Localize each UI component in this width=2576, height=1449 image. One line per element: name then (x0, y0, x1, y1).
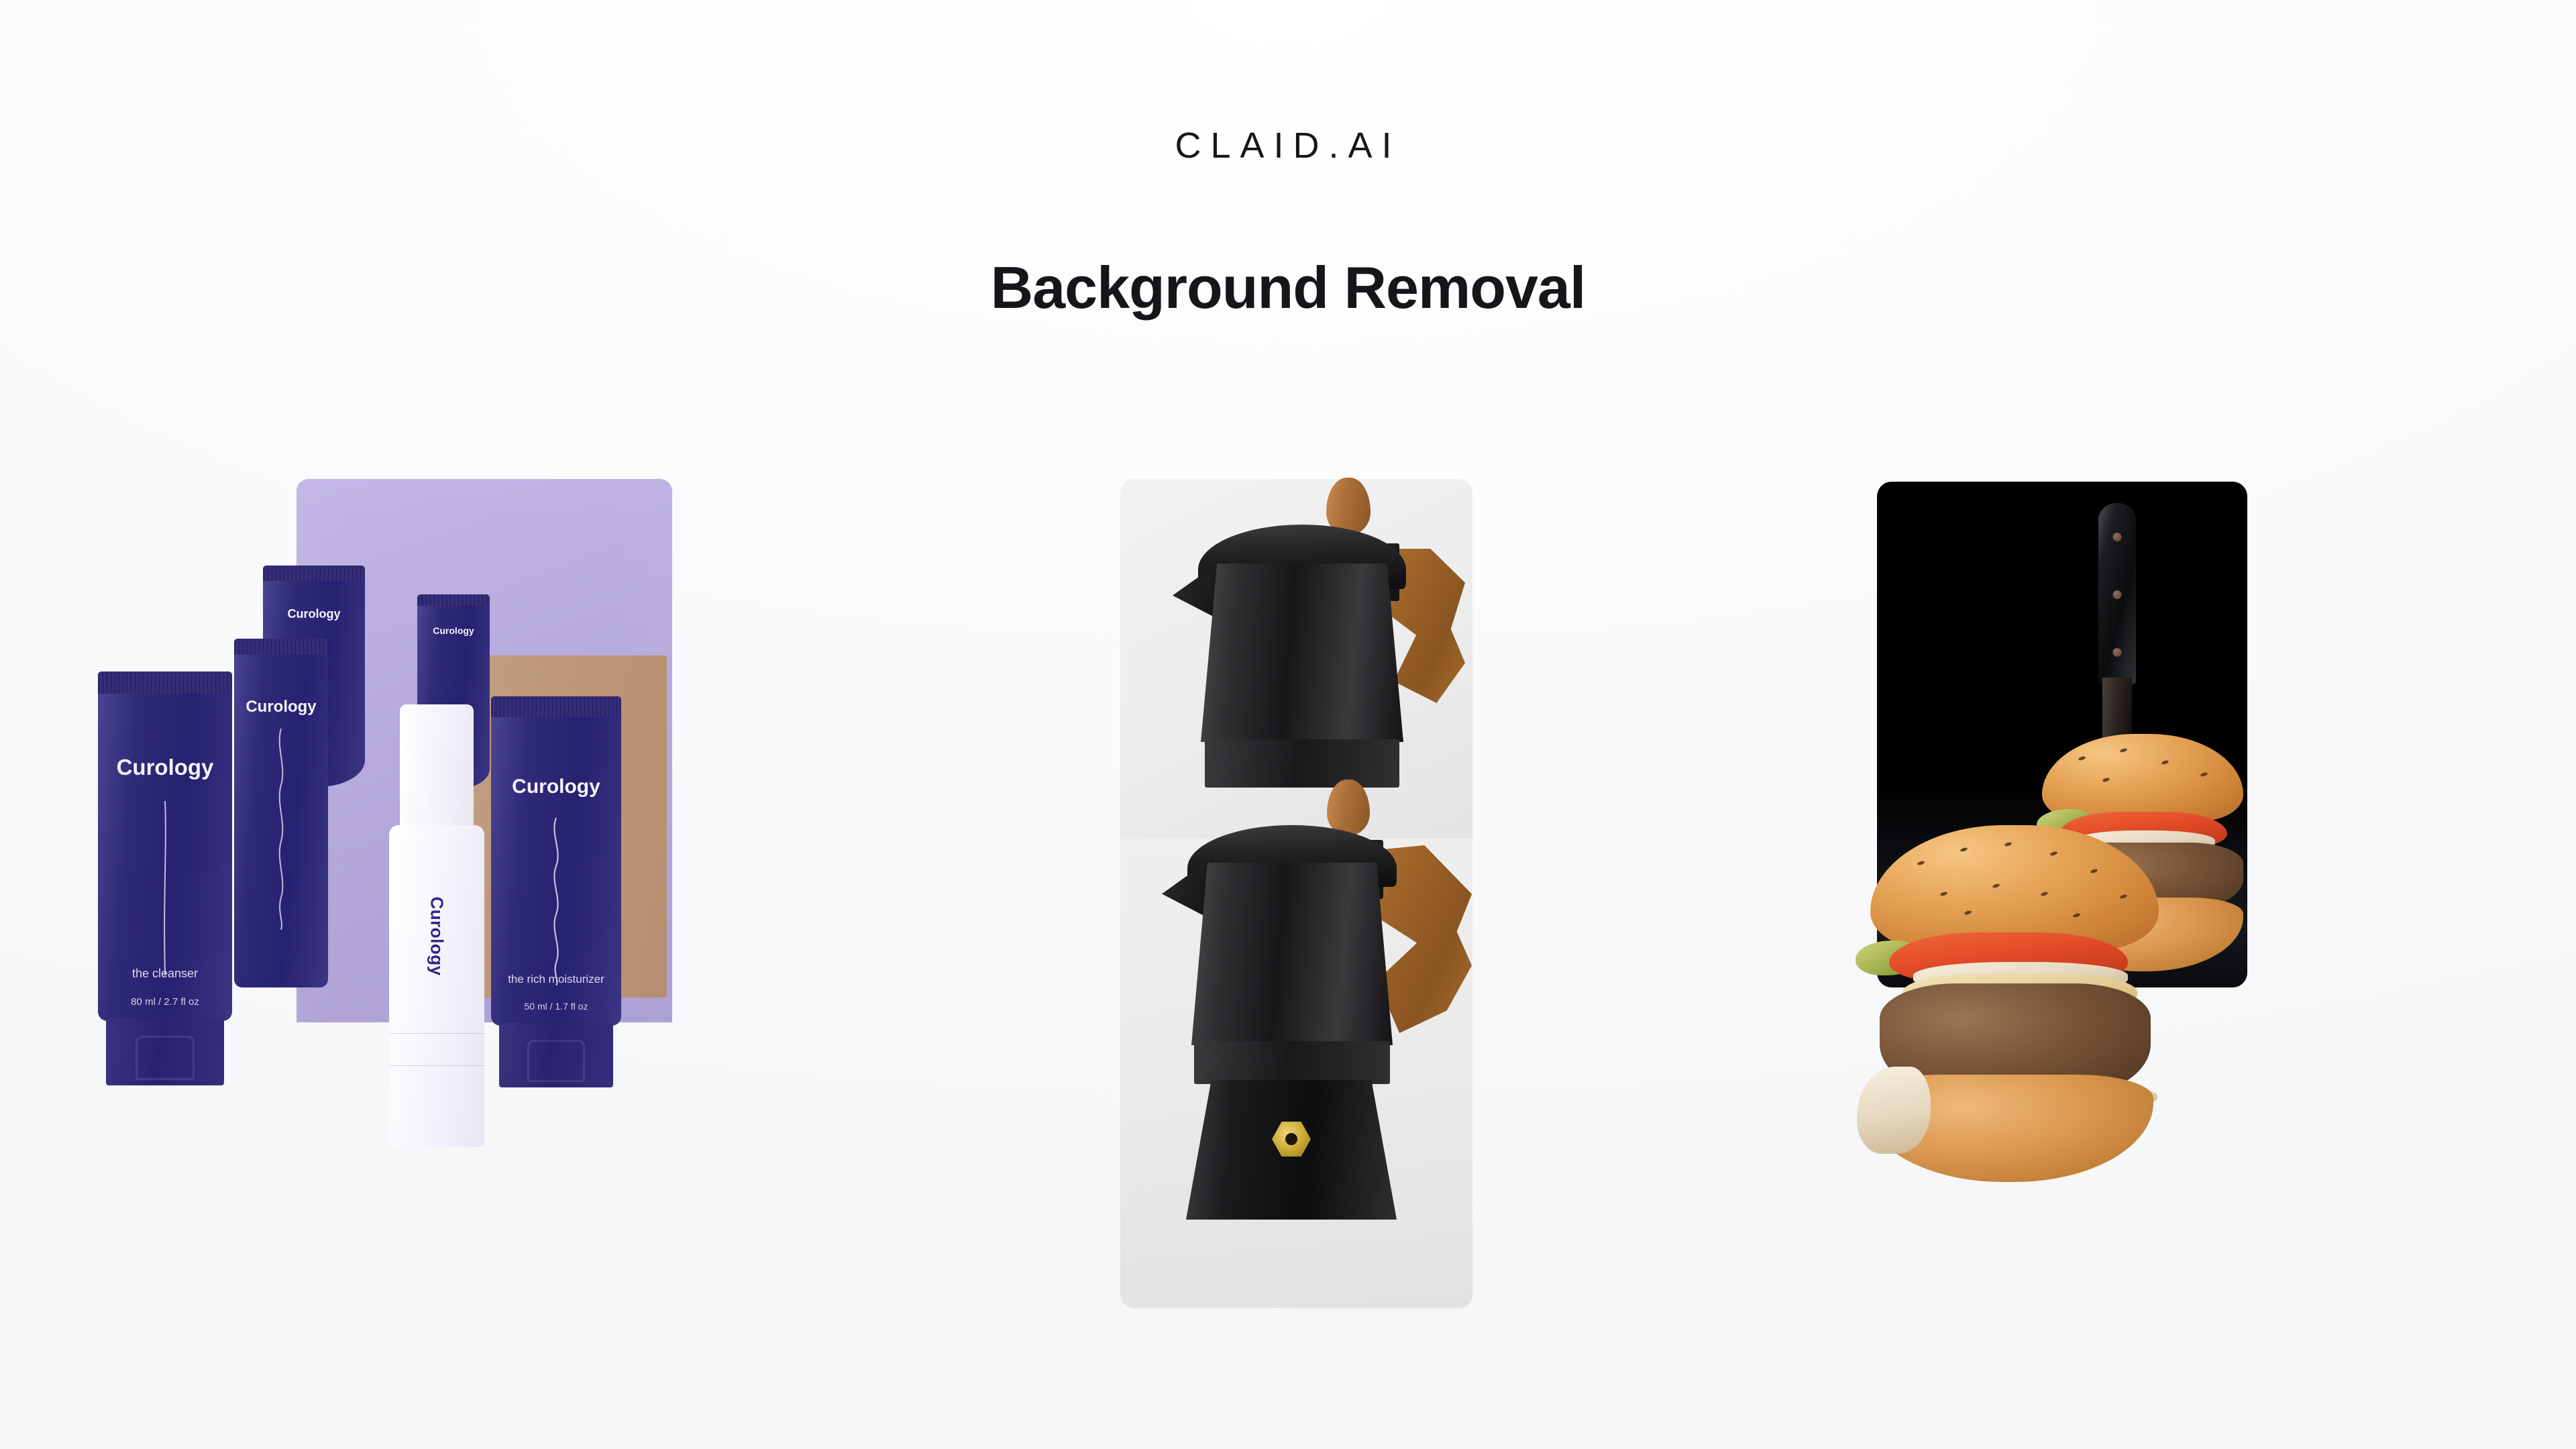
moka-lower-collar (1194, 1041, 1390, 1084)
product-tube-middle: Curology (234, 639, 328, 987)
sesame-seed (2200, 771, 2208, 777)
tube-line-graphic (160, 801, 170, 975)
sample-gallery: Curology Curology Curology (0, 0, 2576, 1449)
tube-cap (234, 639, 328, 656)
tube-brand-label: Curology (263, 607, 365, 621)
sesame-seed (2161, 759, 2169, 765)
sesame-seed (2090, 868, 2098, 873)
knife-rivet (2113, 533, 2122, 541)
tube-volume-label: 80 ml / 2.7 fl oz (98, 996, 232, 1008)
sesame-seed (1992, 883, 2000, 888)
moka-lid-knob (1327, 780, 1370, 836)
sample-moka-pot[interactable] (1073, 463, 1623, 1355)
pump-seam-line (389, 1033, 484, 1034)
sesame-seed (2040, 891, 2048, 896)
tube-cap (98, 672, 232, 696)
sample-burger[interactable] (1838, 463, 2308, 1355)
tube-cap (263, 566, 365, 582)
moka-lower-chamber (1191, 863, 1393, 1045)
sesame-seed (2004, 841, 2012, 847)
sesame-seed (1939, 891, 1947, 896)
moka-upper-chamber (1201, 563, 1403, 742)
sesame-seed (2119, 747, 2127, 753)
tube-brand-label: Curology (98, 755, 232, 780)
tube-brand-label: Curology (491, 775, 621, 798)
pump-body (389, 825, 484, 1147)
sesame-seed (2072, 912, 2080, 918)
product-tube-cleanser: Curology the cleanser 80 ml / 2.7 fl oz (98, 672, 232, 1085)
tube-product-name: the rich moisturizer (491, 973, 621, 986)
sesame-seed (1960, 847, 1968, 852)
tube-volume-label: 50 ml / 1.7 fl oz (491, 1001, 621, 1012)
tube-squiggle-graphic (274, 729, 288, 930)
sesame-seed (1917, 860, 1925, 865)
tube-brand-label: Curology (234, 698, 328, 716)
tube-product-name: the cleanser (98, 967, 232, 981)
knife-rivet (2113, 590, 2122, 599)
sesame-seed (2078, 755, 2086, 761)
front-onion-side (1857, 1067, 1931, 1154)
tube-squiggle-graphic (547, 818, 565, 985)
product-pump-bottle: Curology (389, 704, 484, 1147)
tube-brand-label: Curology (417, 625, 490, 636)
tube-cap-foot (499, 1023, 614, 1087)
sample-curology-skincare[interactable]: Curology Curology Curology (221, 463, 731, 1348)
product-tube-moisturizer: Curology the rich moisturizer 50 ml / 1.… (491, 696, 621, 1087)
sesame-seed (1964, 910, 1972, 915)
sesame-seed (2119, 894, 2127, 899)
knife-handle (2098, 503, 2136, 684)
sesame-seed (2049, 851, 2057, 856)
sesame-seed (2102, 777, 2110, 782)
tube-cap (491, 696, 621, 719)
moka-pot-lower (1073, 751, 1623, 1355)
knife-rivet (2113, 648, 2122, 657)
pump-brand-label: Curology (427, 896, 447, 975)
tube-cap-foot (106, 1018, 224, 1085)
pump-seam-line (389, 1065, 484, 1066)
